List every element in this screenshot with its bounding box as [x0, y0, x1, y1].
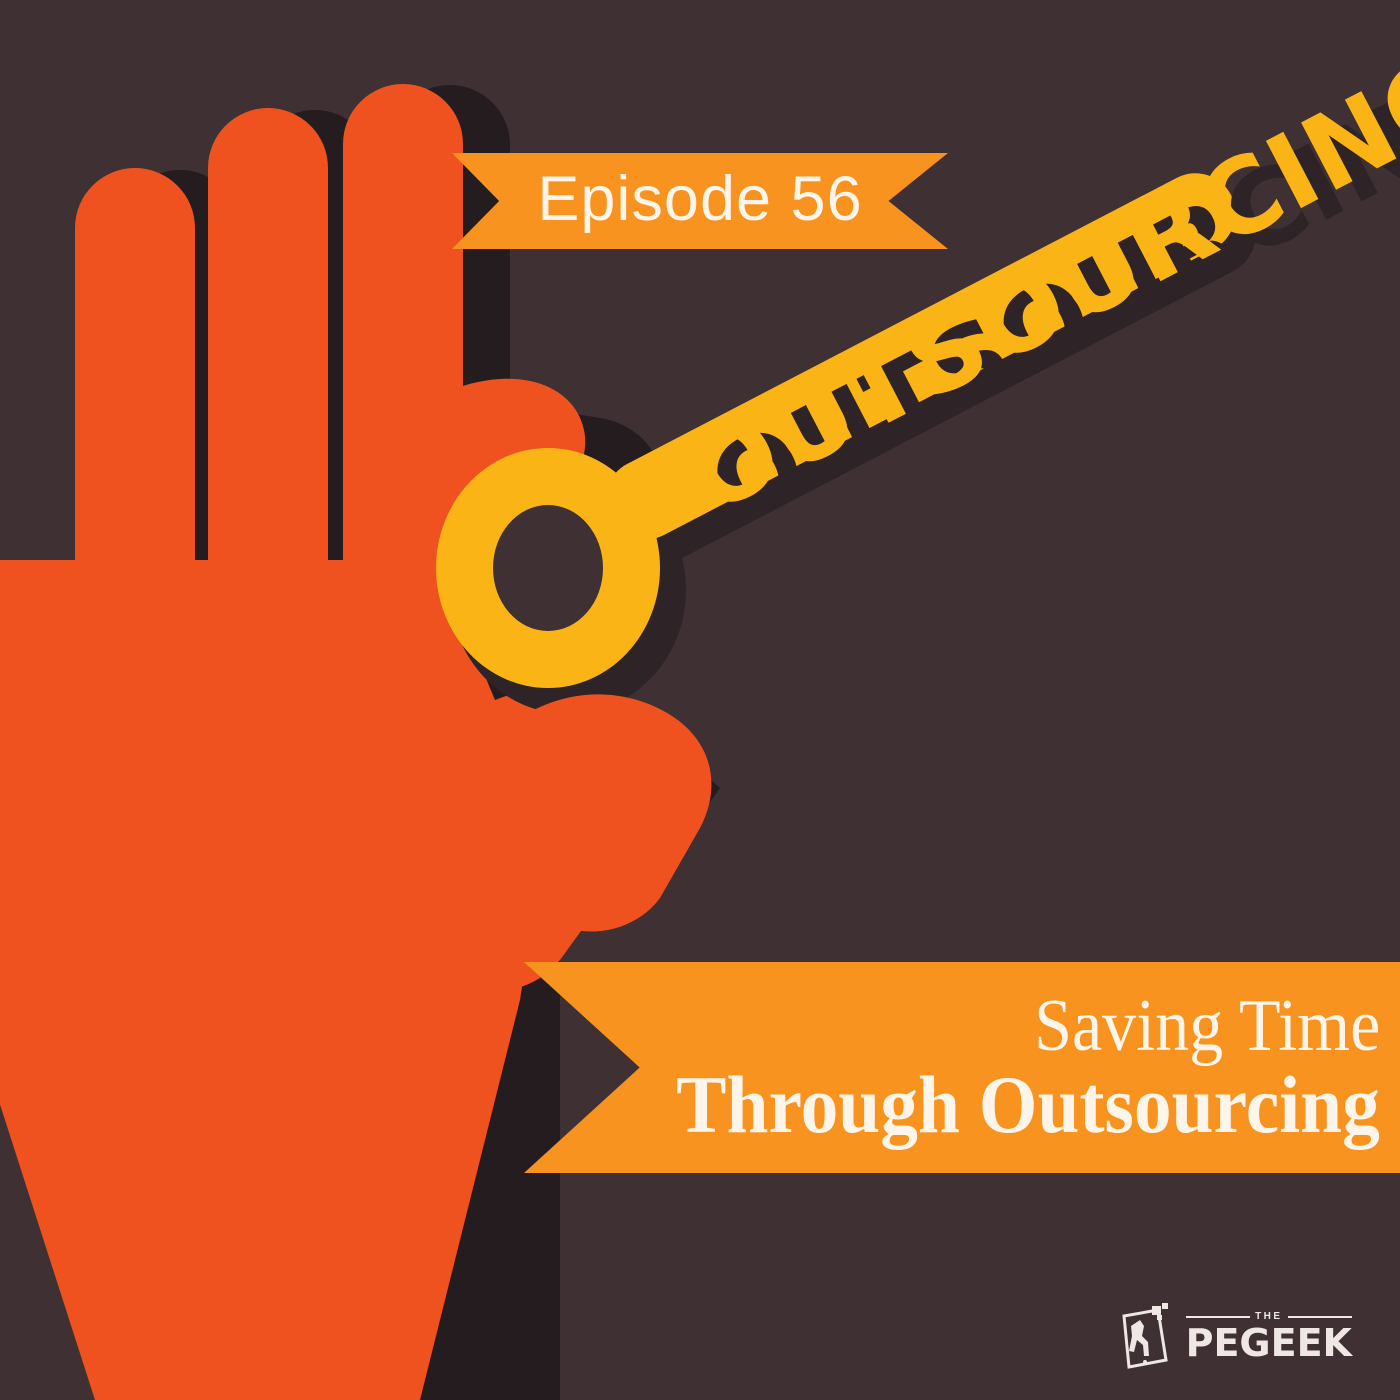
key-bow-hole	[493, 505, 603, 631]
flash-block-1	[1152, 1306, 1161, 1315]
title-line-primary: Saving Time	[1034, 991, 1380, 1063]
brand-logo: THE PEGEEK	[1118, 1302, 1352, 1372]
finger-ring	[208, 108, 328, 638]
finger-pinky	[75, 168, 195, 638]
flash-block-2	[1162, 1303, 1168, 1309]
title-ribbon: Saving Time Through Outsourcing	[524, 962, 1400, 1173]
brand-name-label: PEGEEK	[1186, 1324, 1352, 1362]
frame-dot	[1143, 1360, 1147, 1364]
pegeek-mark-icon	[1118, 1302, 1176, 1372]
flash-block-3	[1157, 1315, 1162, 1320]
figure-shape	[1129, 1320, 1149, 1356]
brand-rule-right	[1288, 1316, 1352, 1318]
brand-rule-left	[1186, 1316, 1250, 1318]
brand-text-group: THE PEGEEK	[1186, 1312, 1352, 1362]
title-line-secondary: Through Outsourcing	[676, 1065, 1380, 1145]
podcast-cover-art: OUTSOURCING OUTSOURCING Episode 56 Savin…	[0, 0, 1400, 1400]
episode-label: Episode 56	[537, 168, 862, 235]
episode-ribbon: Episode 56	[452, 153, 948, 249]
